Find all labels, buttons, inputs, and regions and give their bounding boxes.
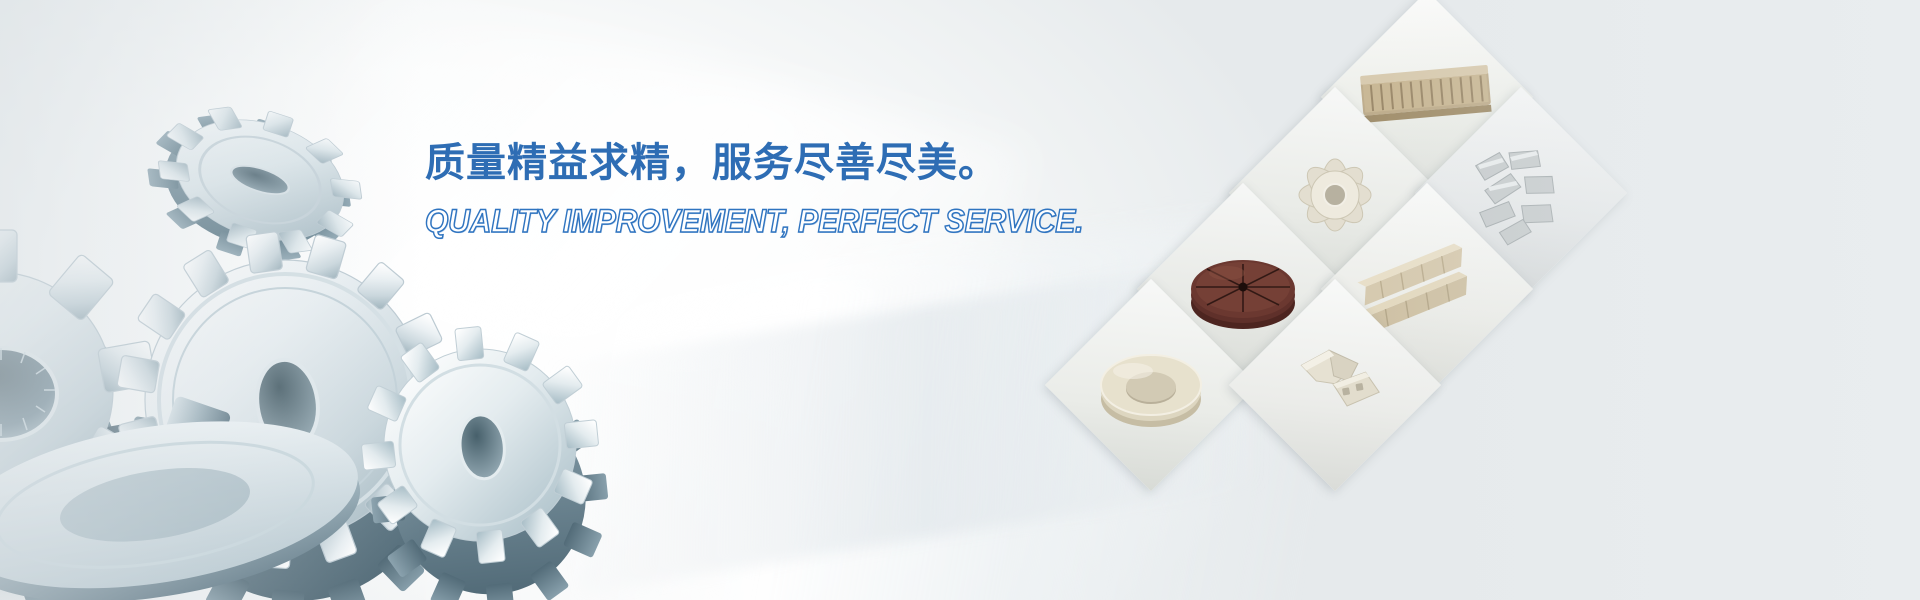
banner-headline-cn: 质量精益求精，服务尽善尽美。 [425, 138, 1065, 188]
product-diamond-collage [1120, 0, 1920, 600]
banner-subline-en: QUALITY IMPROVEMENT, PERFECT SERVICE. [425, 204, 1065, 241]
gear-assembly [0, 40, 610, 600]
banner-text-block: 质量精益求精，服务尽善尽美。 QUALITY IMPROVEMENT, PERF… [425, 138, 1065, 238]
gear-foreground-bottom [0, 370, 510, 600]
hero-banner: 质量精益求精，服务尽善尽美。 QUALITY IMPROVEMENT, PERF… [0, 0, 1920, 600]
